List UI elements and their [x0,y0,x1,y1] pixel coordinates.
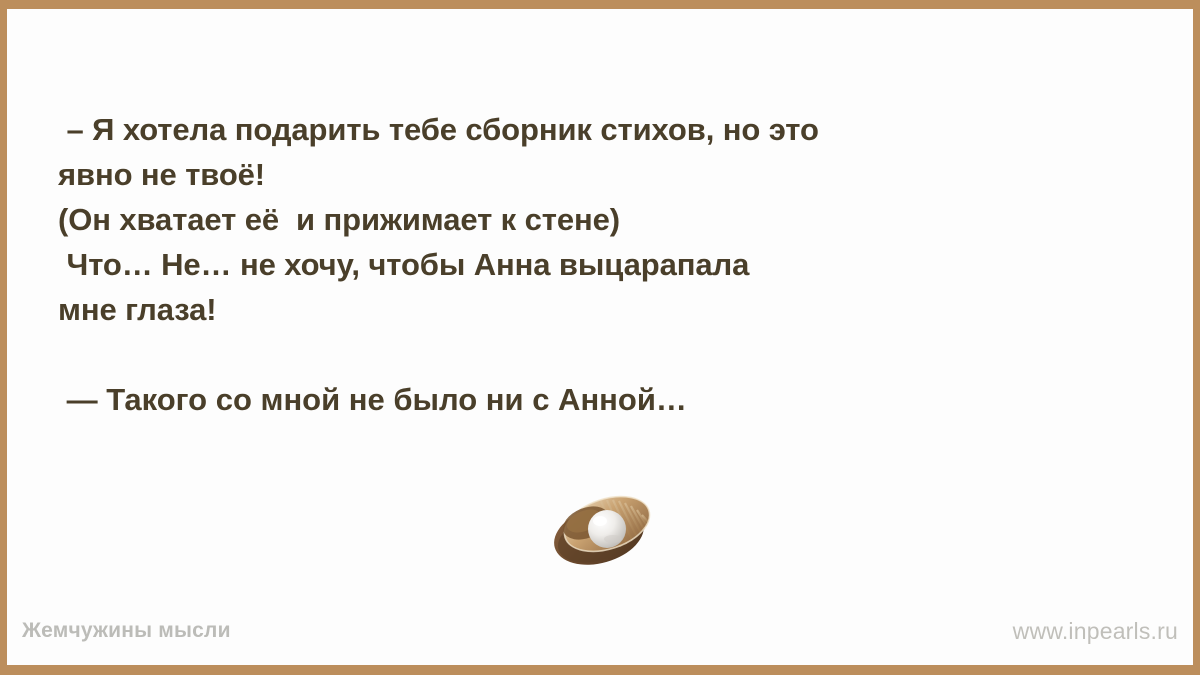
pearl-in-shell-icon [541,487,671,571]
quote-text-block: – Я хотела подарить тебе сборник стихов,… [58,17,1168,422]
quote-line-2: явно не твоё! [58,152,1168,197]
top-spacer [58,17,1168,62]
quote-line-1: – Я хотела подарить тебе сборник стихов,… [58,107,1168,152]
quote-line-3: (Он хватает её и прижимает к стене) [58,197,1168,242]
top-spacer-2 [58,62,1168,107]
footer-website[interactable]: www.inpearls.ru [1013,618,1178,645]
paragraph-gap [58,332,1168,377]
quote-closing-line: — Такого со мной не было ни с Анной… [58,377,1168,422]
card-inner: – Я хотела подарить тебе сборник стихов,… [7,9,1193,665]
footer-brand: Жемчужины мысли [22,619,231,643]
quote-card: – Я хотела подарить тебе сборник стихов,… [0,0,1200,675]
quote-line-5: мне глаза! [58,287,1168,332]
quote-line-4: Что… Не… не хочу, чтобы Анна выцарапала [58,242,1168,287]
